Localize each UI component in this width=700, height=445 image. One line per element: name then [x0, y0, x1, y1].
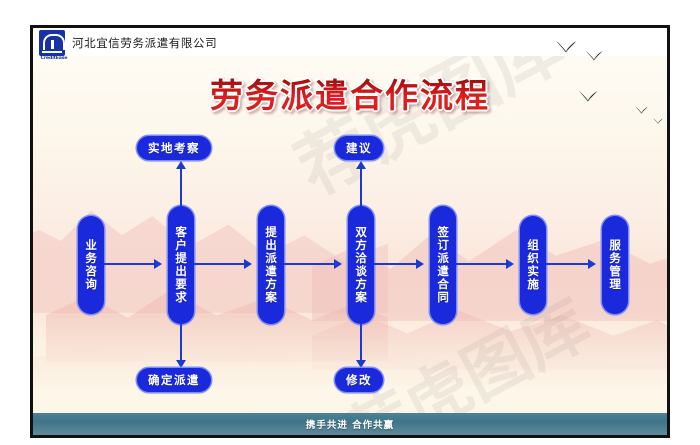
bird-icon	[653, 118, 663, 124]
flow-node-1[interactable]: 业务咨询	[78, 216, 104, 314]
poster-canvas: 荐虎图库 荐虎图库 CreditEase 河北宜信劳务派遣有	[33, 28, 667, 435]
flow-node-label: 组织实施	[527, 239, 539, 291]
logo-base-shape	[42, 51, 62, 54]
flow-node-5[interactable]: 签订派遣合同	[430, 206, 456, 324]
arrow-head-3-4	[334, 259, 342, 269]
connector-1-2	[104, 263, 154, 265]
flow-node-label: 业务咨询	[85, 239, 97, 291]
arrow-head-1-2	[154, 259, 162, 269]
branch-node-label: 建议	[346, 140, 372, 156]
branch-node-label: 修改	[346, 372, 372, 388]
branch-node-label: 实地考察	[148, 140, 200, 156]
arrow-head-down-2	[356, 360, 366, 368]
poster-title: 劳务派遣合作流程	[33, 69, 667, 117]
poster-frame: 荐虎图库 荐虎图库 CreditEase 河北宜信劳务派遣有	[30, 25, 670, 438]
arrow-head-2-3	[244, 259, 252, 269]
branch-node-down-1[interactable]: 确定派遣	[137, 368, 211, 392]
poster-title-text: 劳务派遣合作流程	[210, 76, 490, 115]
arrow-head-6-7	[588, 259, 596, 269]
logo-wordmark: CreditEase	[39, 56, 69, 61]
arrow-head-down-1	[176, 360, 186, 368]
connector-4-5	[374, 263, 416, 265]
connector-3-4	[284, 263, 334, 265]
flow-node-label: 签订派遣合同	[437, 226, 449, 304]
creditease-logo-icon	[39, 30, 65, 56]
arrow-head-5-6	[506, 259, 514, 269]
bird-icon	[653, 118, 663, 124]
footer-bar: 携手共进 合作共赢	[33, 413, 667, 435]
branch-node-down-2[interactable]: 修改	[335, 368, 383, 392]
bird-icon	[555, 40, 577, 53]
flow-node-label: 双方洽谈方案	[355, 226, 367, 304]
connector-down-2	[360, 324, 362, 360]
arrow-head-up-1	[176, 161, 186, 169]
branch-node-up-1[interactable]: 实地考察	[137, 136, 211, 160]
flow-node-3[interactable]: 提出派遣方案	[258, 206, 284, 324]
flow-node-label: 服务管理	[609, 239, 621, 291]
flow-node-2[interactable]: 客户提出要求	[168, 206, 194, 324]
connector-5-6	[456, 263, 506, 265]
flow-node-6[interactable]: 组织实施	[520, 216, 546, 314]
connector-2-3	[194, 263, 244, 265]
footer-slogan: 携手共进 合作共赢	[306, 417, 394, 431]
branch-node-label: 确定派遣	[148, 372, 200, 388]
flow-node-4[interactable]: 双方洽谈方案	[348, 206, 374, 324]
flow-node-7[interactable]: 服务管理	[602, 216, 628, 314]
bird-icon	[585, 50, 603, 61]
logo-arch-shape	[43, 34, 65, 50]
connector-up-1	[180, 168, 182, 206]
flow-node-label: 客户提出要求	[175, 226, 187, 304]
branch-node-up-2[interactable]: 建议	[335, 136, 383, 160]
bird-icon	[585, 50, 603, 61]
arrow-head-4-5	[416, 259, 424, 269]
connector-down-1	[180, 324, 182, 360]
connector-6-7	[546, 263, 588, 265]
brand-block: CreditEase 河北宜信劳务派遣有限公司	[39, 30, 217, 56]
company-name: 河北宜信劳务派遣有限公司	[72, 35, 217, 51]
logo-pillar-shape	[51, 40, 54, 49]
bird-icon	[555, 40, 577, 53]
arrow-head-up-2	[356, 161, 366, 169]
flow-node-label: 提出派遣方案	[265, 226, 277, 304]
connector-up-2	[360, 168, 362, 206]
